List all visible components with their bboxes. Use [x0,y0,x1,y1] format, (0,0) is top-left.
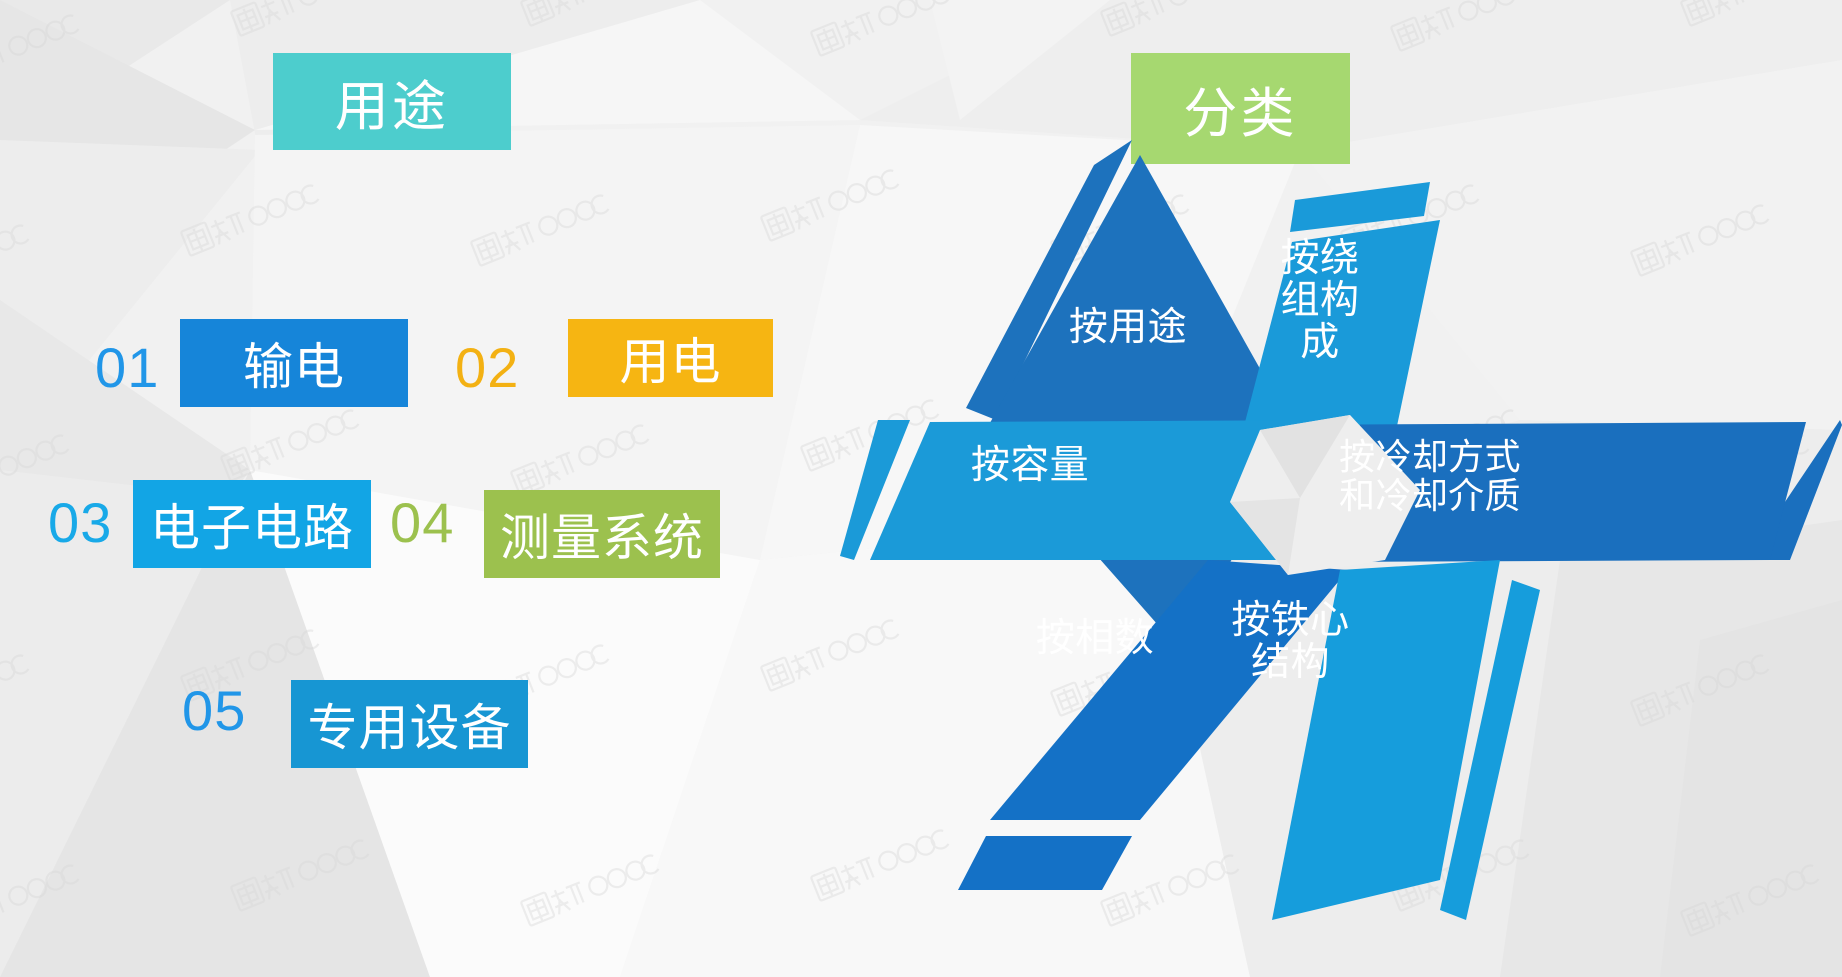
slide-canvas: 用途 01 输电 02 用电 03 电子电路 04 测量系统 05 专用设备 分… [0,0,1842,977]
list-number-04: 04 [390,495,455,551]
list-chip-special-equipment[interactable]: 专用设备 [291,680,528,768]
list-number-03: 03 [48,495,113,551]
pinwheel-label-by-capacity: 按容量 [915,445,1145,487]
list-number-02: 02 [455,340,520,396]
pinwheel-label-by-phases: 按相数 [990,618,1200,660]
pinwheel-label-by-core: 按铁心 结构 [1208,600,1373,684]
pinwheel-diagram: 按用途 按绕 组构 成 按冷却方式 和冷却介质 按容量 按相数 按铁心 结构 [840,120,1842,977]
list-chip-power-use[interactable]: 用电 [568,319,773,397]
list-chip-electronic-circuit[interactable]: 电子电路 [133,480,371,568]
list-number-05: 05 [182,683,247,739]
pinwheel-label-by-cooling: 按冷却方式 和冷却介质 [1280,438,1580,516]
section-title-use: 用途 [273,53,511,150]
list-chip-measurement-system[interactable]: 测量系统 [484,490,720,578]
content-layer: 用途 01 输电 02 用电 03 电子电路 04 测量系统 05 专用设备 分… [0,0,1842,977]
list-chip-transmission[interactable]: 输电 [180,319,408,407]
pinwheel-label-by-winding: 按绕 组构 成 [1255,238,1385,364]
list-number-01: 01 [95,340,160,396]
pinwheel-label-by-use: 按用途 [1023,307,1233,349]
